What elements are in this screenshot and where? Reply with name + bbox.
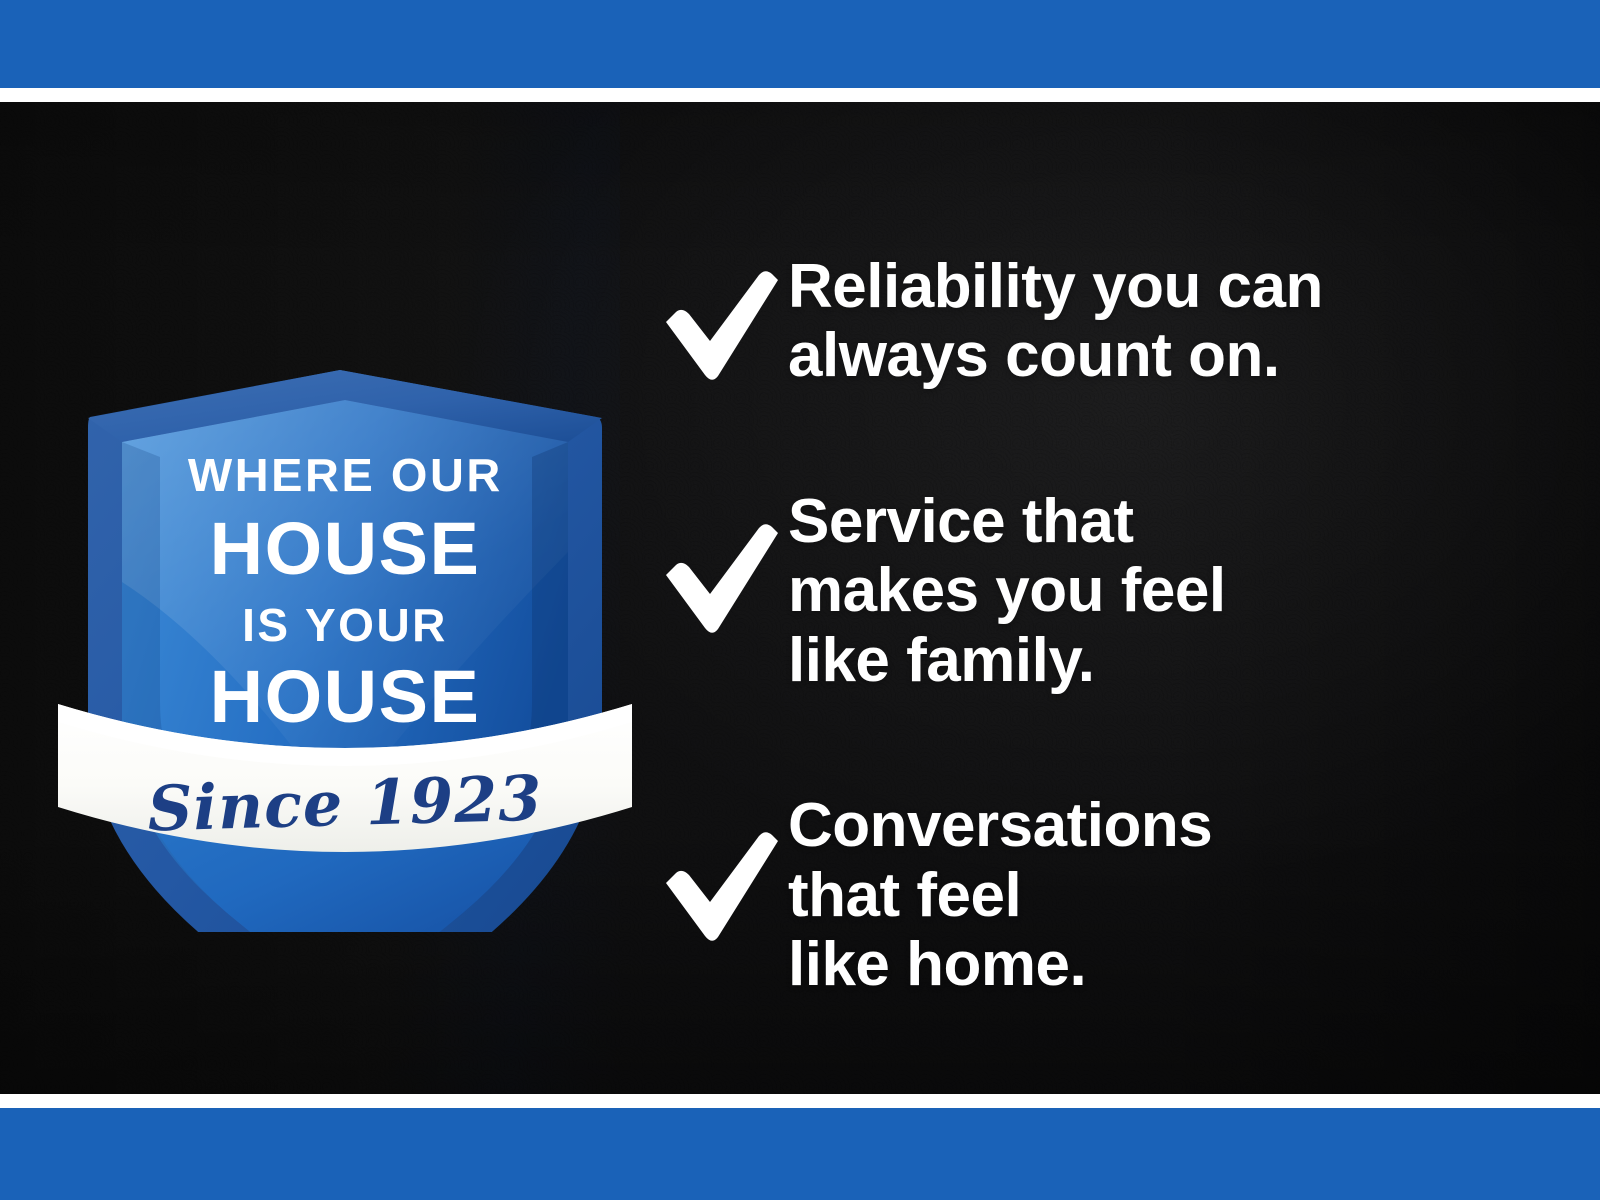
benefit-text: Reliability you can always count on.: [788, 252, 1323, 391]
check-icon: [660, 791, 788, 949]
benefit-item: Conversations that feel like home.: [660, 791, 1560, 999]
bottom-brand-bar: [0, 1108, 1600, 1200]
benefit-text: Conversations that feel like home.: [788, 791, 1212, 999]
benefits-list: Reliability you can always count on. Ser…: [660, 252, 1560, 1000]
main-stage: WHERE OUR HOUSE IS YOUR HOUSE Since 1923…: [0, 102, 1600, 1098]
benefit-text: Service that makes you feel like family.: [788, 487, 1226, 695]
shield-graphic: [40, 252, 650, 932]
bottom-white-divider: [0, 1094, 1600, 1108]
promo-graphic: WHERE OUR HOUSE IS YOUR HOUSE Since 1923…: [0, 0, 1600, 1200]
check-icon: [660, 487, 788, 641]
check-icon: [660, 252, 788, 388]
top-brand-bar: [0, 0, 1600, 88]
benefit-item: Service that makes you feel like family.: [660, 487, 1560, 695]
shield-emblem: WHERE OUR HOUSE IS YOUR HOUSE Since 1923: [40, 252, 650, 932]
benefit-item: Reliability you can always count on.: [660, 252, 1560, 391]
top-white-divider: [0, 88, 1600, 102]
